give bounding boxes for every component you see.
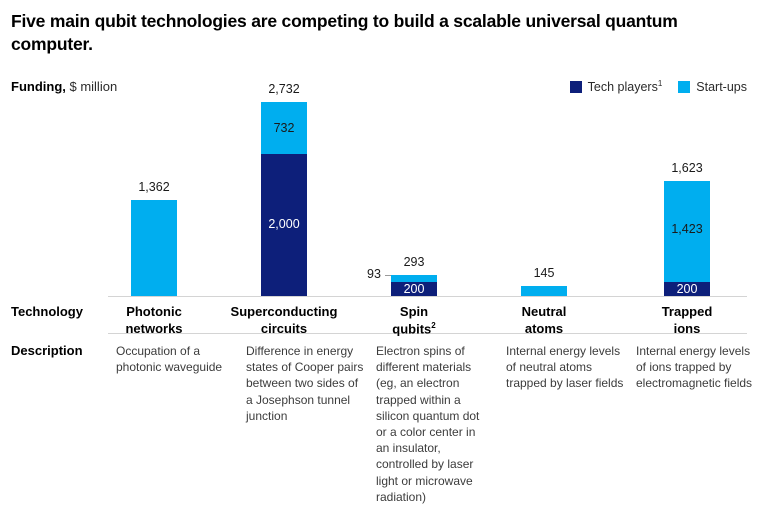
technology-cell-spin-qubits: Spin qubits2 — [344, 304, 484, 338]
bar-segment-start-ups-spin-qubits[interactable] — [391, 275, 437, 282]
bar-value-start-ups-trapped-ions: 1,423 — [664, 223, 710, 236]
bar-value-tech-players-trapped-ions: 200 — [664, 283, 710, 296]
page-title: Five main qubit technologies are competi… — [11, 10, 711, 57]
technology-line2-trapped-ions: ions — [674, 321, 701, 336]
technology-cell-neutral-atoms: Neutral atoms — [474, 304, 614, 338]
technology-line2-spin-qubits: qubits — [392, 321, 431, 336]
description-cell-spin-qubits: Electron spins of different materials (e… — [376, 343, 488, 505]
description-cell-photonic: Occupation of a photonic waveguide — [116, 343, 236, 375]
bar-total-label-photonic: 1,362 — [138, 180, 169, 194]
bar-segment-tech-players-trapped-ions[interactable]: 200 — [664, 282, 710, 296]
bar-value-start-ups-spin-qubits: 93 — [367, 267, 381, 281]
legend-footnote-marker-1: 1 — [658, 79, 662, 88]
technology-line2-superconducting: circuits — [261, 321, 307, 336]
bar-segment-start-ups-photonic[interactable] — [131, 200, 177, 296]
bar-stack-trapped-ions[interactable]: 1,423 200 — [664, 181, 710, 296]
technology-line1-superconducting: Superconducting — [231, 304, 338, 319]
bar-total-label-trapped-ions: 1,623 — [671, 161, 702, 175]
bar-column-spin-qubits: 293 93 200 — [344, 96, 484, 296]
technology-line1-photonic: Photonic — [126, 304, 182, 319]
bar-stack-spin-qubits[interactable]: 200 — [391, 275, 437, 296]
bar-segment-start-ups-superconducting[interactable]: 732 — [261, 102, 307, 154]
legend-label-tech-players: Tech players1 — [588, 79, 663, 94]
technology-cell-photonic: Photonic networks — [84, 304, 224, 338]
chart-legend: Tech players1 Start-ups — [570, 79, 747, 94]
bar-chart-plot-area: 1,362 2,732 732 2,000 293 93 200 145 — [0, 96, 759, 296]
description-cell-superconducting: Difference in energy states of Cooper pa… — [246, 343, 366, 424]
bar-segment-start-ups-trapped-ions[interactable]: 1,423 — [664, 181, 710, 282]
row-title-description: Description — [11, 343, 83, 358]
bar-total-label-spin-qubits: 293 — [404, 255, 425, 269]
axis-unit-strong: Funding, — [11, 79, 66, 94]
bar-stack-photonic[interactable] — [131, 200, 177, 296]
bar-segment-tech-players-superconducting[interactable]: 2,000 — [261, 154, 307, 296]
bar-column-photonic: 1,362 — [84, 96, 224, 296]
legend-item-tech-players[interactable]: Tech players1 — [570, 79, 663, 94]
bar-column-neutral-atoms: 145 — [474, 96, 614, 296]
bar-segment-start-ups-neutral-atoms[interactable] — [521, 286, 567, 296]
technology-cell-trapped-ions: Trapped ions — [617, 304, 757, 338]
legend-swatch-start-ups — [678, 81, 690, 93]
bar-total-label-superconducting: 2,732 — [268, 82, 299, 96]
bar-segment-tech-players-spin-qubits[interactable]: 200 — [391, 282, 437, 296]
bar-stack-neutral-atoms[interactable] — [521, 286, 567, 296]
technology-line2-neutral-atoms: atoms — [525, 321, 563, 336]
bar-total-label-neutral-atoms: 145 — [534, 266, 555, 280]
legend-swatch-tech-players — [570, 81, 582, 93]
bar-stack-superconducting[interactable]: 732 2,000 — [261, 102, 307, 296]
legend-label-start-ups: Start-ups — [696, 80, 747, 94]
technology-line2-photonic: networks — [125, 321, 182, 336]
description-cell-trapped-ions: Internal energy levels of ions trapped b… — [636, 343, 756, 392]
bar-column-superconducting: 2,732 732 2,000 — [214, 96, 354, 296]
bar-value-tech-players-spin-qubits: 200 — [391, 283, 437, 296]
technology-line1-spin-qubits: Spin — [400, 304, 428, 319]
axis-unit-label: Funding, $ million — [11, 79, 117, 94]
bar-column-trapped-ions: 1,623 1,423 200 — [617, 96, 757, 296]
technology-line1-trapped-ions: Trapped — [662, 304, 713, 319]
legend-item-start-ups[interactable]: Start-ups — [678, 80, 747, 94]
table-rule-top — [108, 296, 747, 297]
axis-unit-rest: $ million — [66, 79, 117, 94]
technology-cell-superconducting: Superconducting circuits — [214, 304, 354, 338]
description-cell-neutral-atoms: Internal energy levels of neutral atoms … — [506, 343, 626, 392]
technology-footnote-marker-2: 2 — [431, 321, 435, 330]
bar-value-tech-players-superconducting: 2,000 — [261, 218, 307, 231]
bar-value-start-ups-superconducting: 732 — [261, 122, 307, 135]
row-title-technology: Technology — [11, 304, 83, 319]
technology-line1-neutral-atoms: Neutral — [522, 304, 567, 319]
